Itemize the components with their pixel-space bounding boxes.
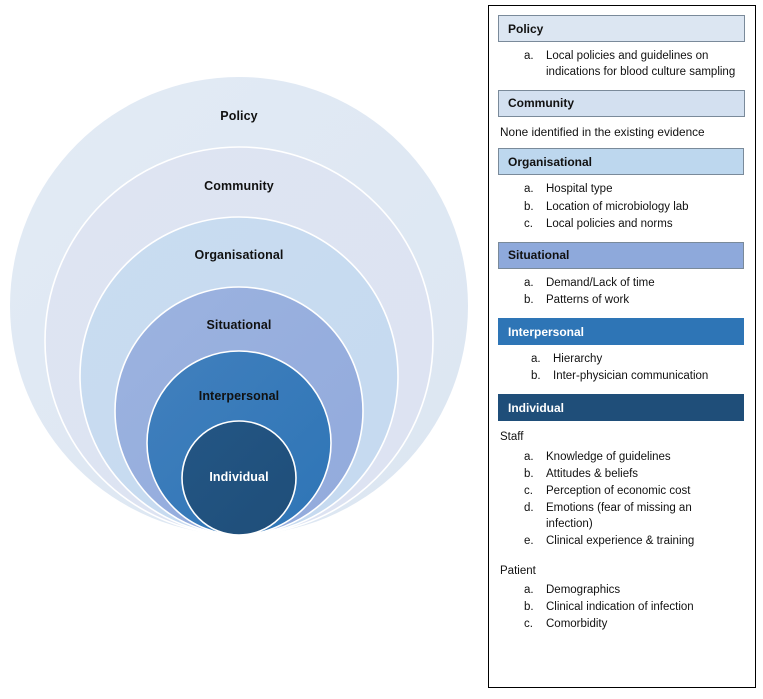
list-item: a.Local policies and guidelines on indic… xyxy=(498,49,746,82)
legend-body-community: None identified in the existing evidence xyxy=(498,121,746,149)
legend-header-community: Community xyxy=(498,90,745,117)
legend-header-individual: Individual xyxy=(498,394,744,421)
list-item-text: Clinical indication of infection xyxy=(546,600,746,616)
legend-header-organisational: Organisational xyxy=(498,148,744,175)
list-item: b.Clinical indication of infection xyxy=(498,600,746,617)
ring-label-individual: Individual xyxy=(209,470,268,484)
legend-item-list: a.Hierarchyb.Inter-physician communicati… xyxy=(498,349,746,394)
ring-label-policy: Policy xyxy=(220,109,257,123)
list-item: a.Hierarchy xyxy=(498,352,746,369)
list-item-marker: b. xyxy=(498,293,546,308)
list-item: c.Local policies and norms xyxy=(498,217,746,234)
list-item: b.Location of microbiology lab xyxy=(498,200,746,217)
list-item-text: Attitudes & beliefs xyxy=(546,467,746,483)
list-item-marker: a. xyxy=(498,182,546,197)
list-item: a.Demographics xyxy=(498,583,746,600)
list-item-text: Hospital type xyxy=(546,182,746,198)
legend-body-organisational: a.Hospital typeb.Location of microbiolog… xyxy=(498,179,746,241)
legend-subheading-staff: Staff xyxy=(498,425,746,446)
list-item-text: Patterns of work xyxy=(546,293,746,309)
legend-item-list: a.Demand/Lack of timeb.Patterns of work xyxy=(498,273,746,318)
list-item-text: Perception of economic cost xyxy=(546,484,746,500)
list-item-marker: a. xyxy=(498,450,546,465)
legend-header-interpersonal: Interpersonal xyxy=(498,318,744,345)
list-item: b.Patterns of work xyxy=(498,293,746,310)
list-item: c.Comorbidity xyxy=(498,617,746,634)
list-item: d.Emotions (fear of missing an infection… xyxy=(498,501,746,534)
list-item-marker: a. xyxy=(498,352,553,367)
list-item-text: Comorbidity xyxy=(546,617,746,633)
legend-body-individual: Staffa.Knowledge of guidelinesb.Attitude… xyxy=(498,425,746,642)
legend-item-list: a.Local policies and guidelines on indic… xyxy=(498,46,746,90)
list-item-marker: a. xyxy=(498,49,546,64)
list-item-marker: b. xyxy=(498,369,553,384)
list-item: b.Inter-physician communication xyxy=(498,369,746,386)
legend-item-list: a.Knowledge of guidelinesb.Attitudes & b… xyxy=(498,447,746,559)
legend-body-policy: a.Local policies and guidelines on indic… xyxy=(498,46,746,90)
list-item-marker: d. xyxy=(498,501,546,516)
list-item-text: Inter-physician communication xyxy=(553,369,746,385)
legend-note-community: None identified in the existing evidence xyxy=(498,121,746,149)
list-item-marker: a. xyxy=(498,583,546,598)
list-item-text: Demographics xyxy=(546,583,746,599)
legend-body-interpersonal: a.Hierarchyb.Inter-physician communicati… xyxy=(498,349,746,394)
list-item: c.Perception of economic cost xyxy=(498,484,746,501)
legend-item-list: a.Hospital typeb.Location of microbiolog… xyxy=(498,179,746,241)
ring-label-situational: Situational xyxy=(207,318,272,332)
list-item-text: Demand/Lack of time xyxy=(546,276,746,292)
list-item-text: Emotions (fear of missing an infection) xyxy=(546,501,746,532)
list-item-text: Knowledge of guidelines xyxy=(546,450,746,466)
ring-label-organisational: Organisational xyxy=(195,248,284,262)
list-item-marker: c. xyxy=(498,484,546,499)
list-item-text: Hierarchy xyxy=(553,352,746,368)
list-item-marker: c. xyxy=(498,617,546,632)
list-item-text: Location of microbiology lab xyxy=(546,200,746,216)
legend-subheading-patient: Patient xyxy=(498,559,746,580)
legend-header-situational: Situational xyxy=(498,242,744,269)
list-item-marker: b. xyxy=(498,200,546,215)
ring-label-interpersonal: Interpersonal xyxy=(199,389,280,403)
ring-label-community: Community xyxy=(204,179,274,193)
list-item-marker: a. xyxy=(498,276,546,291)
factors-legend-panel: Policya.Local policies and guidelines on… xyxy=(488,5,756,688)
socio-ecological-circles-diagram: PolicyCommunityOrganisationalSituational… xyxy=(0,0,480,699)
list-item-text: Clinical experience & training xyxy=(546,534,746,550)
list-item-marker: e. xyxy=(498,534,546,549)
list-item: e.Clinical experience & training xyxy=(498,534,746,551)
list-item-marker: b. xyxy=(498,600,546,615)
list-item-text: Local policies and norms xyxy=(546,217,746,233)
list-item-text: Local policies and guidelines on indicat… xyxy=(546,49,746,80)
list-item: b.Attitudes & beliefs xyxy=(498,467,746,484)
list-item: a.Knowledge of guidelines xyxy=(498,450,746,467)
list-item: a.Demand/Lack of time xyxy=(498,276,746,293)
legend-content: Policya.Local policies and guidelines on… xyxy=(498,15,746,643)
legend-item-list: a.Demographicsb.Clinical indication of i… xyxy=(498,580,746,642)
nested-circles-svg xyxy=(0,0,480,699)
legend-body-situational: a.Demand/Lack of timeb.Patterns of work xyxy=(498,273,746,318)
list-item: a.Hospital type xyxy=(498,182,746,199)
list-item-marker: b. xyxy=(498,467,546,482)
legend-header-policy: Policy xyxy=(498,15,745,42)
list-item-marker: c. xyxy=(498,217,546,232)
